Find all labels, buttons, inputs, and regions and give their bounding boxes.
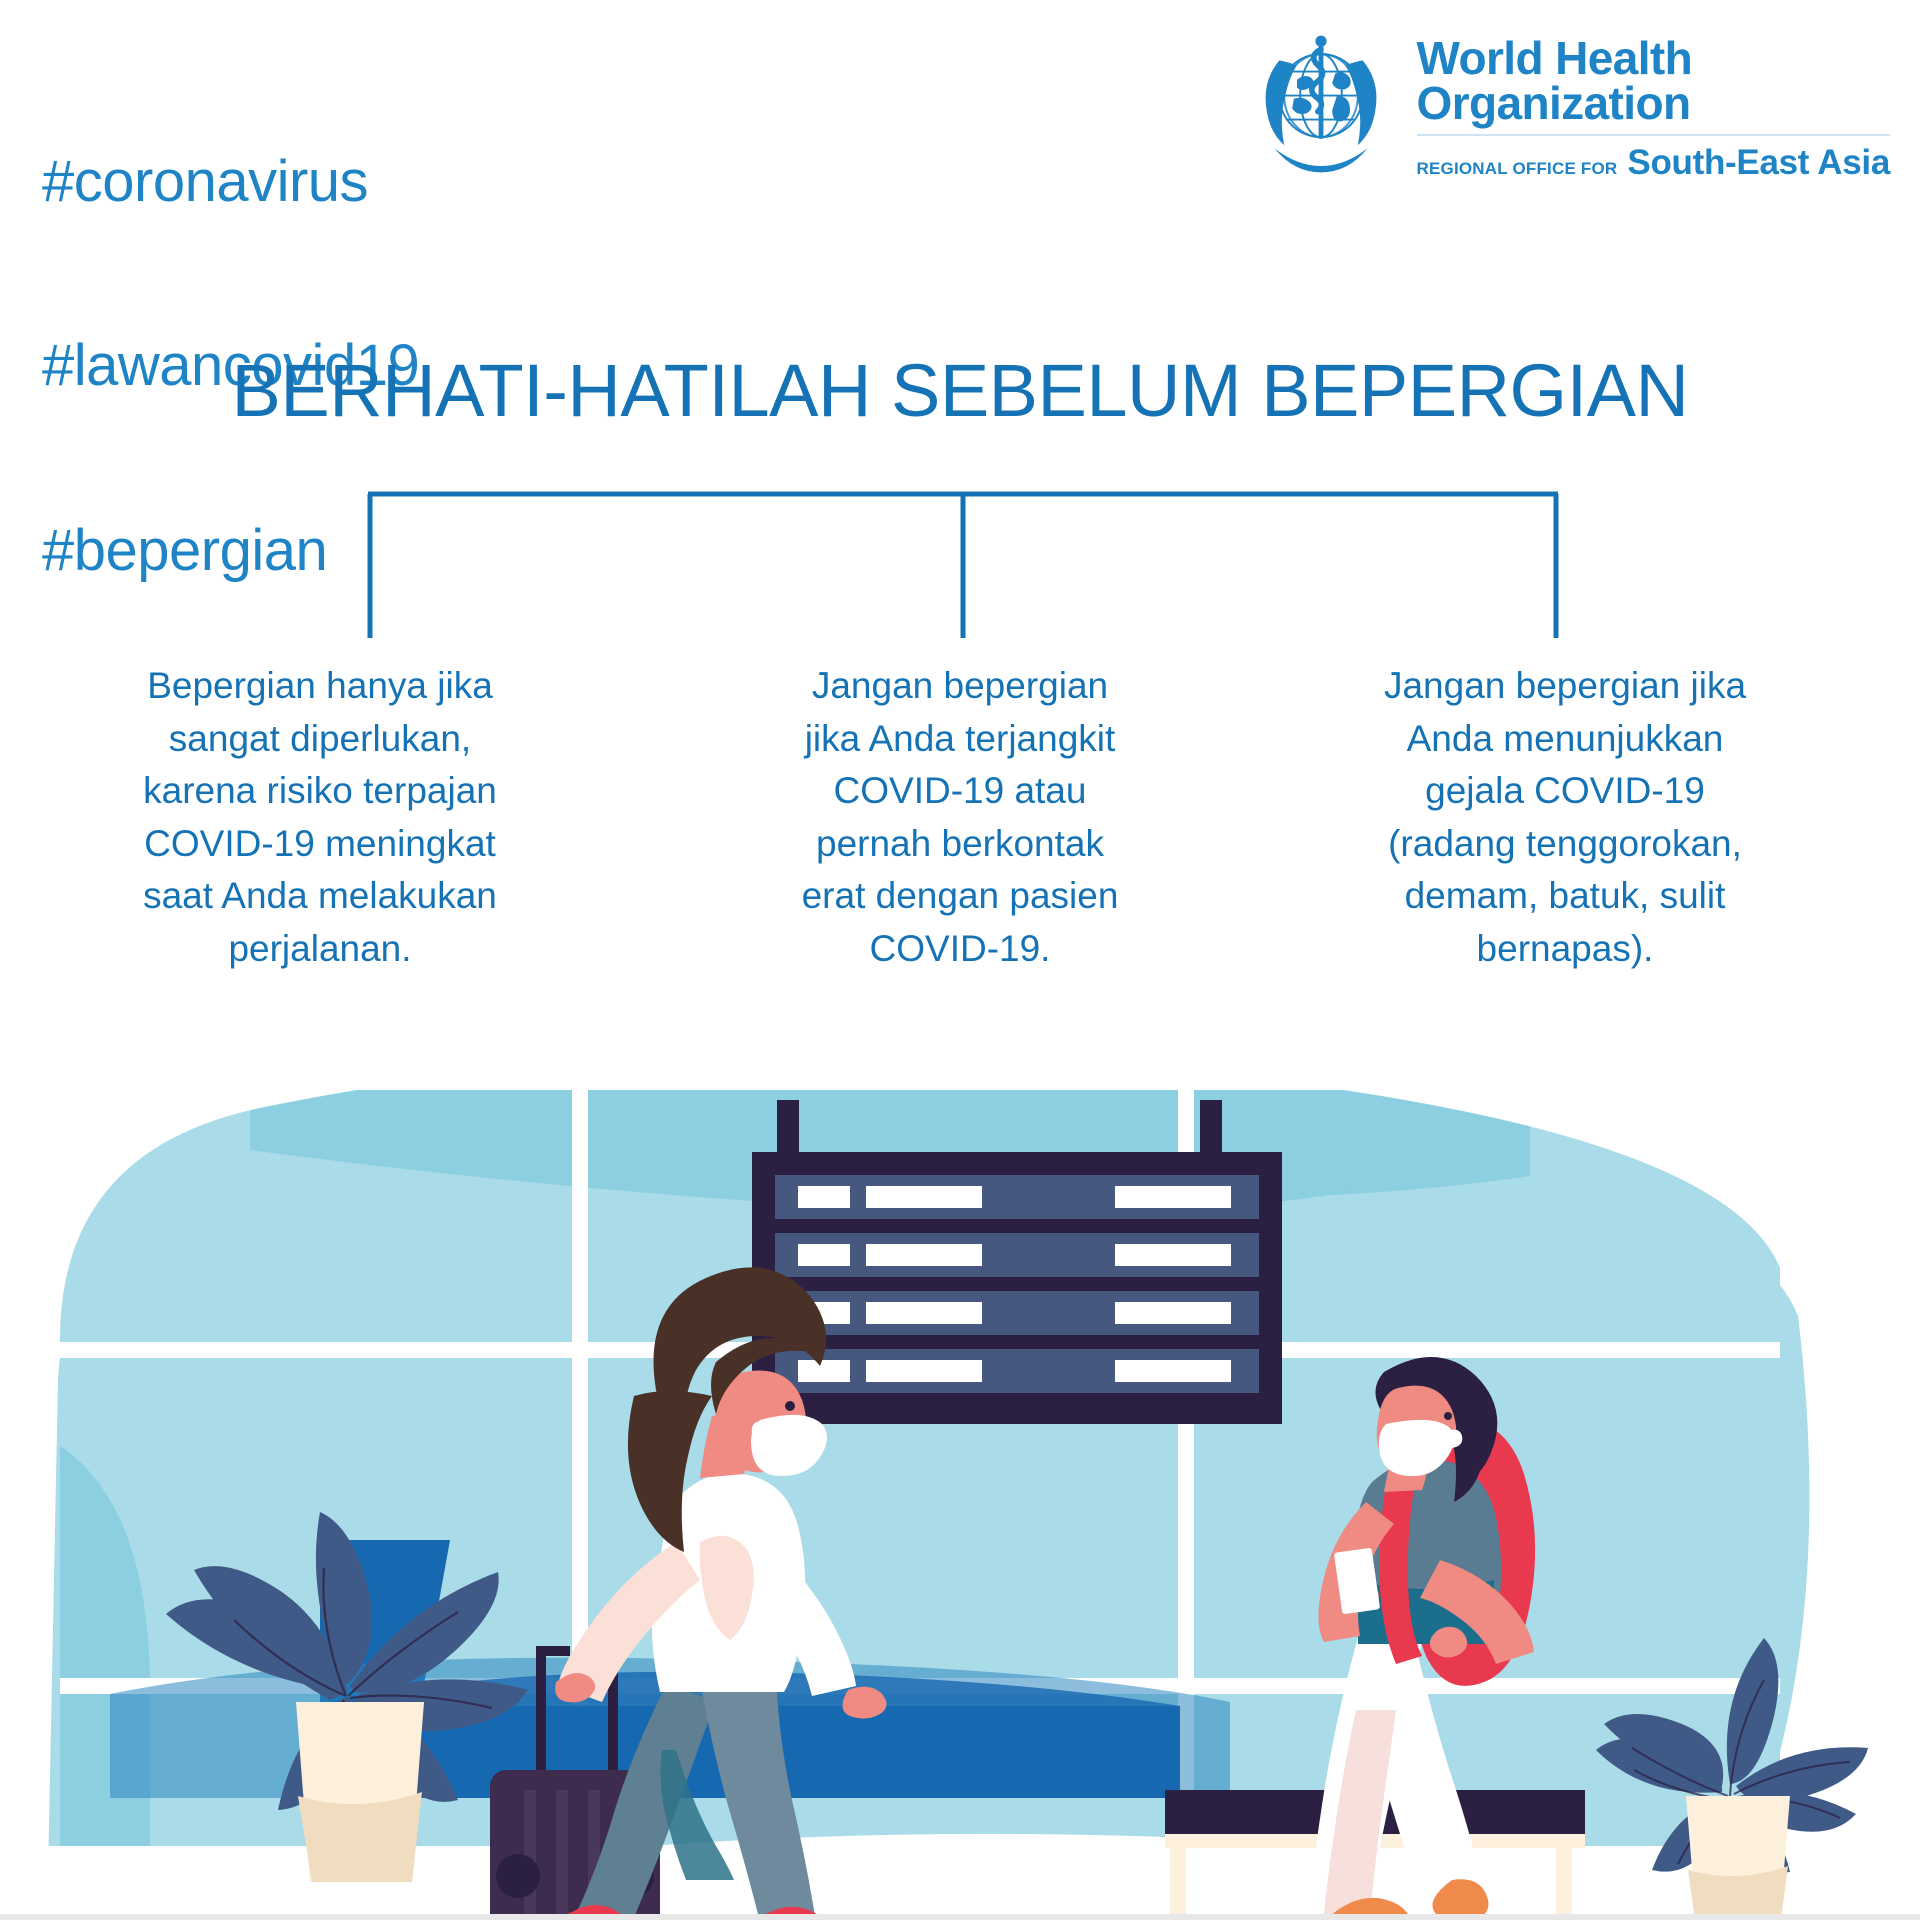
who-region-name: South-East Asia <box>1627 143 1890 183</box>
advice-column-3: Jangan bepergian jika Anda menunjukkan g… <box>1375 660 1755 975</box>
board-row <box>775 1233 1259 1277</box>
airport-scene-illustration <box>0 1090 1920 1920</box>
bracket-connector <box>0 486 1920 646</box>
infographic-page: #coronavirus #lawancovid19 #bepergian <box>0 0 1920 1920</box>
woman-eye <box>785 1401 795 1411</box>
hashtag-coronavirus: #coronavirus <box>42 151 419 212</box>
board-hanger-left <box>777 1100 799 1160</box>
board-row <box>775 1291 1259 1335</box>
who-logo: World Health Organization REGIONAL OFFIC… <box>1241 22 1890 183</box>
who-org-line2: Organization <box>1417 81 1890 126</box>
advice-column-2: Jangan bepergian jika Anda terjangkit CO… <box>780 660 1140 975</box>
who-logo-text: World Health Organization REGIONAL OFFIC… <box>1417 22 1890 183</box>
advice-column-1: Bepergian hanya jika sangat diperlukan, … <box>140 660 500 975</box>
man-eye <box>1444 1412 1452 1420</box>
board-hanger-right <box>1200 1100 1222 1160</box>
who-emblem-icon <box>1241 22 1401 182</box>
floor-line <box>0 1914 1920 1920</box>
board-row <box>775 1175 1259 1219</box>
board-row <box>775 1349 1259 1393</box>
who-divider <box>1417 134 1890 136</box>
page-title: BERHATI-HATILAH SEBELUM BEPERGIAN <box>0 348 1920 433</box>
who-regional-label: REGIONAL OFFICE FOR <box>1417 159 1618 179</box>
who-org-line1: World Health <box>1417 36 1890 81</box>
